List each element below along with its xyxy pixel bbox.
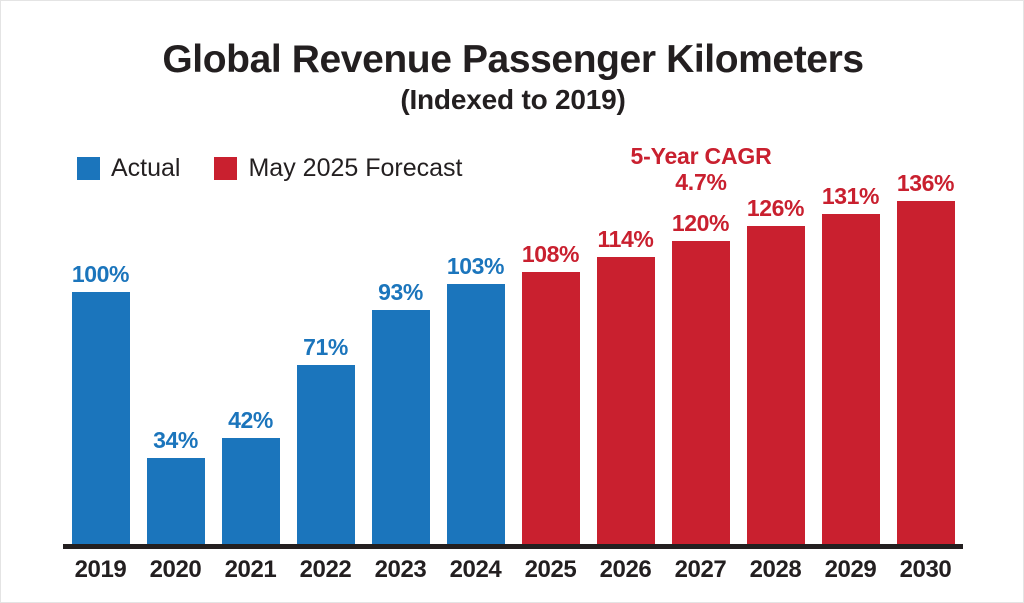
bar-2022[interactable] [297, 365, 355, 544]
bar-2025[interactable] [522, 272, 580, 544]
bar-2030[interactable] [897, 201, 955, 544]
bar-group-2027[interactable]: 120% [672, 191, 730, 544]
bar-group-2028[interactable]: 126% [747, 191, 805, 544]
bar-group-2026[interactable]: 114% [597, 191, 655, 544]
bar-value-label-2026: 114% [598, 228, 654, 251]
bar-value-label-2021: 42% [228, 409, 273, 432]
bar-value-label-2024: 103% [447, 255, 504, 278]
bar-2023[interactable] [372, 310, 430, 544]
axis-label-2029: 2029 [813, 556, 888, 585]
bar-value-label-2020: 34% [153, 429, 198, 452]
axis-label-2020: 2020 [138, 556, 213, 585]
axis-label-2027: 2027 [663, 556, 738, 585]
bar-group-2030[interactable]: 136% [897, 191, 955, 544]
cagr-annotation-title: 5-Year CAGR [601, 144, 801, 170]
bar-2019[interactable] [72, 292, 130, 544]
bar-2029[interactable] [822, 214, 880, 544]
chart-legend: Actual May 2025 Forecast [77, 156, 462, 181]
legend-swatch-forecast [214, 157, 237, 180]
axis-label-2023: 2023 [363, 556, 438, 585]
axis-label-2022: 2022 [288, 556, 363, 585]
legend-swatch-actual [77, 157, 100, 180]
legend-label-forecast: May 2025 Forecast [248, 156, 462, 181]
bar-2020[interactable] [147, 458, 205, 544]
axis-label-2028: 2028 [738, 556, 813, 585]
bar-value-label-2019: 100% [72, 263, 129, 286]
bar-group-2019[interactable]: 100% [72, 191, 130, 544]
bar-value-label-2022: 71% [303, 336, 348, 359]
x-axis-line [63, 544, 963, 549]
bar-group-2021[interactable]: 42% [222, 191, 280, 544]
title-block: Global Revenue Passenger Kilometers (Ind… [1, 39, 1024, 116]
plot-area: 100%34%42%71%93%103%108%114%120%126%131%… [63, 191, 963, 544]
legend-item-actual[interactable]: Actual [77, 156, 180, 181]
bar-2027[interactable] [672, 241, 730, 544]
legend-label-actual: Actual [111, 156, 180, 181]
axis-label-2030: 2030 [888, 556, 963, 585]
legend-item-forecast[interactable]: May 2025 Forecast [214, 156, 462, 181]
bar-2026[interactable] [597, 257, 655, 544]
bar-group-2023[interactable]: 93% [372, 191, 430, 544]
bar-group-2022[interactable]: 71% [297, 191, 355, 544]
cagr-annotation: 5-Year CAGR 4.7% [601, 144, 801, 196]
bar-value-label-2025: 108% [522, 243, 579, 266]
bar-value-label-2023: 93% [378, 281, 423, 304]
bar-2028[interactable] [747, 226, 805, 544]
bar-group-2024[interactable]: 103% [447, 191, 505, 544]
bar-value-label-2029: 131% [822, 185, 879, 208]
chart-container: Global Revenue Passenger Kilometers (Ind… [0, 0, 1024, 603]
axis-label-2019: 2019 [63, 556, 138, 585]
axis-label-2025: 2025 [513, 556, 588, 585]
bar-value-label-2027: 120% [672, 212, 729, 235]
bar-value-label-2028: 126% [747, 197, 804, 220]
axis-label-2021: 2021 [213, 556, 288, 585]
axis-label-2024: 2024 [438, 556, 513, 585]
bar-group-2025[interactable]: 108% [522, 191, 580, 544]
bar-2024[interactable] [447, 284, 505, 544]
bar-2021[interactable] [222, 438, 280, 544]
axis-label-2026: 2026 [588, 556, 663, 585]
chart-title: Global Revenue Passenger Kilometers [1, 39, 1024, 80]
chart-subtitle: (Indexed to 2019) [1, 85, 1024, 116]
bar-group-2029[interactable]: 131% [822, 191, 880, 544]
bar-value-label-2030: 136% [897, 172, 954, 195]
bar-group-2020[interactable]: 34% [147, 191, 205, 544]
x-axis-labels: 2019202020212022202320242025202620272028… [63, 556, 963, 590]
